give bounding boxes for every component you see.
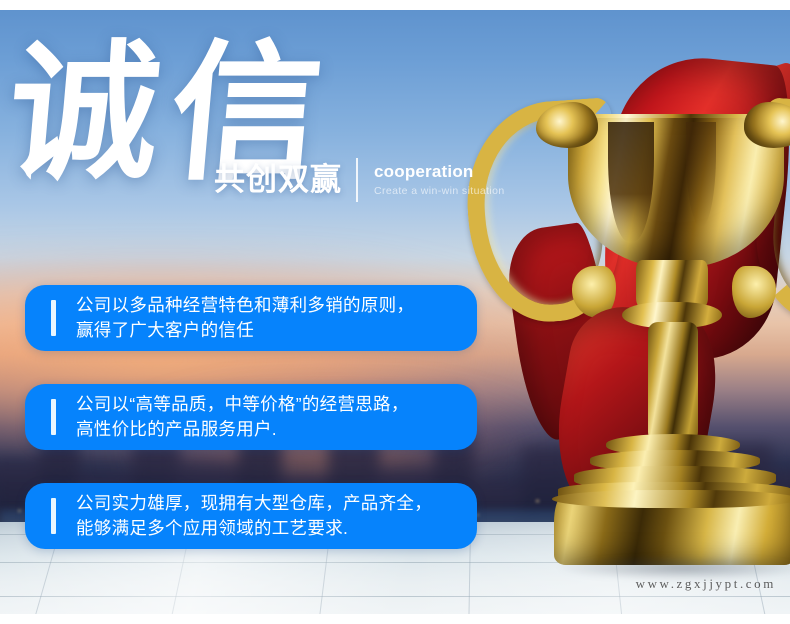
feature-pill-2-text: 公司以“高等品质，中等价格”的经营思路， 高性价比的产品服务用户. bbox=[76, 392, 409, 442]
subheadline-chinese: 共创双赢 bbox=[214, 163, 342, 197]
subheadline-english: cooperation bbox=[374, 162, 505, 182]
trophy-illustration bbox=[440, 10, 790, 614]
feature-pill-1: 公司以多品种经营特色和薄利多销的原则， 赢得了广大客户的信任 bbox=[25, 285, 477, 351]
feature-pill-3: 公司实力雄厚，现拥有大型仓库，产品齐全， 能够满足多个应用领域的工艺要求. bbox=[25, 483, 477, 549]
watermark-url: www.zgxjjypt.com bbox=[636, 576, 776, 592]
trophy-stem bbox=[648, 322, 698, 442]
subheadline-row: 共创双赢 cooperation Create a win-win situat… bbox=[214, 156, 505, 204]
trophy-neck bbox=[636, 260, 708, 308]
feature-pill-2: 公司以“高等品质，中等价格”的经营思路， 高性价比的产品服务用户. bbox=[25, 384, 477, 450]
subheadline-divider bbox=[356, 158, 358, 202]
accent-bar-icon bbox=[51, 399, 56, 435]
banner-stage: 诚信 共创双赢 cooperation Create a win-win sit… bbox=[0, 10, 790, 614]
trophy-plinth-top bbox=[552, 490, 790, 508]
trophy-scroll-right bbox=[744, 102, 790, 148]
promo-banner: 诚信 共创双赢 cooperation Create a win-win sit… bbox=[0, 0, 790, 624]
feature-pill-1-text: 公司以多品种经营特色和薄利多销的原则， 赢得了广大客户的信任 bbox=[76, 293, 414, 343]
subheadline-english-group: cooperation Create a win-win situation bbox=[374, 162, 505, 199]
accent-bar-icon bbox=[51, 498, 56, 534]
feature-pill-3-text: 公司实力雄厚，现拥有大型仓库，产品齐全， 能够满足多个应用领域的工艺要求. bbox=[76, 491, 432, 541]
subheadline-english-tagline: Create a win-win situation bbox=[374, 184, 505, 199]
accent-bar-icon bbox=[51, 300, 56, 336]
